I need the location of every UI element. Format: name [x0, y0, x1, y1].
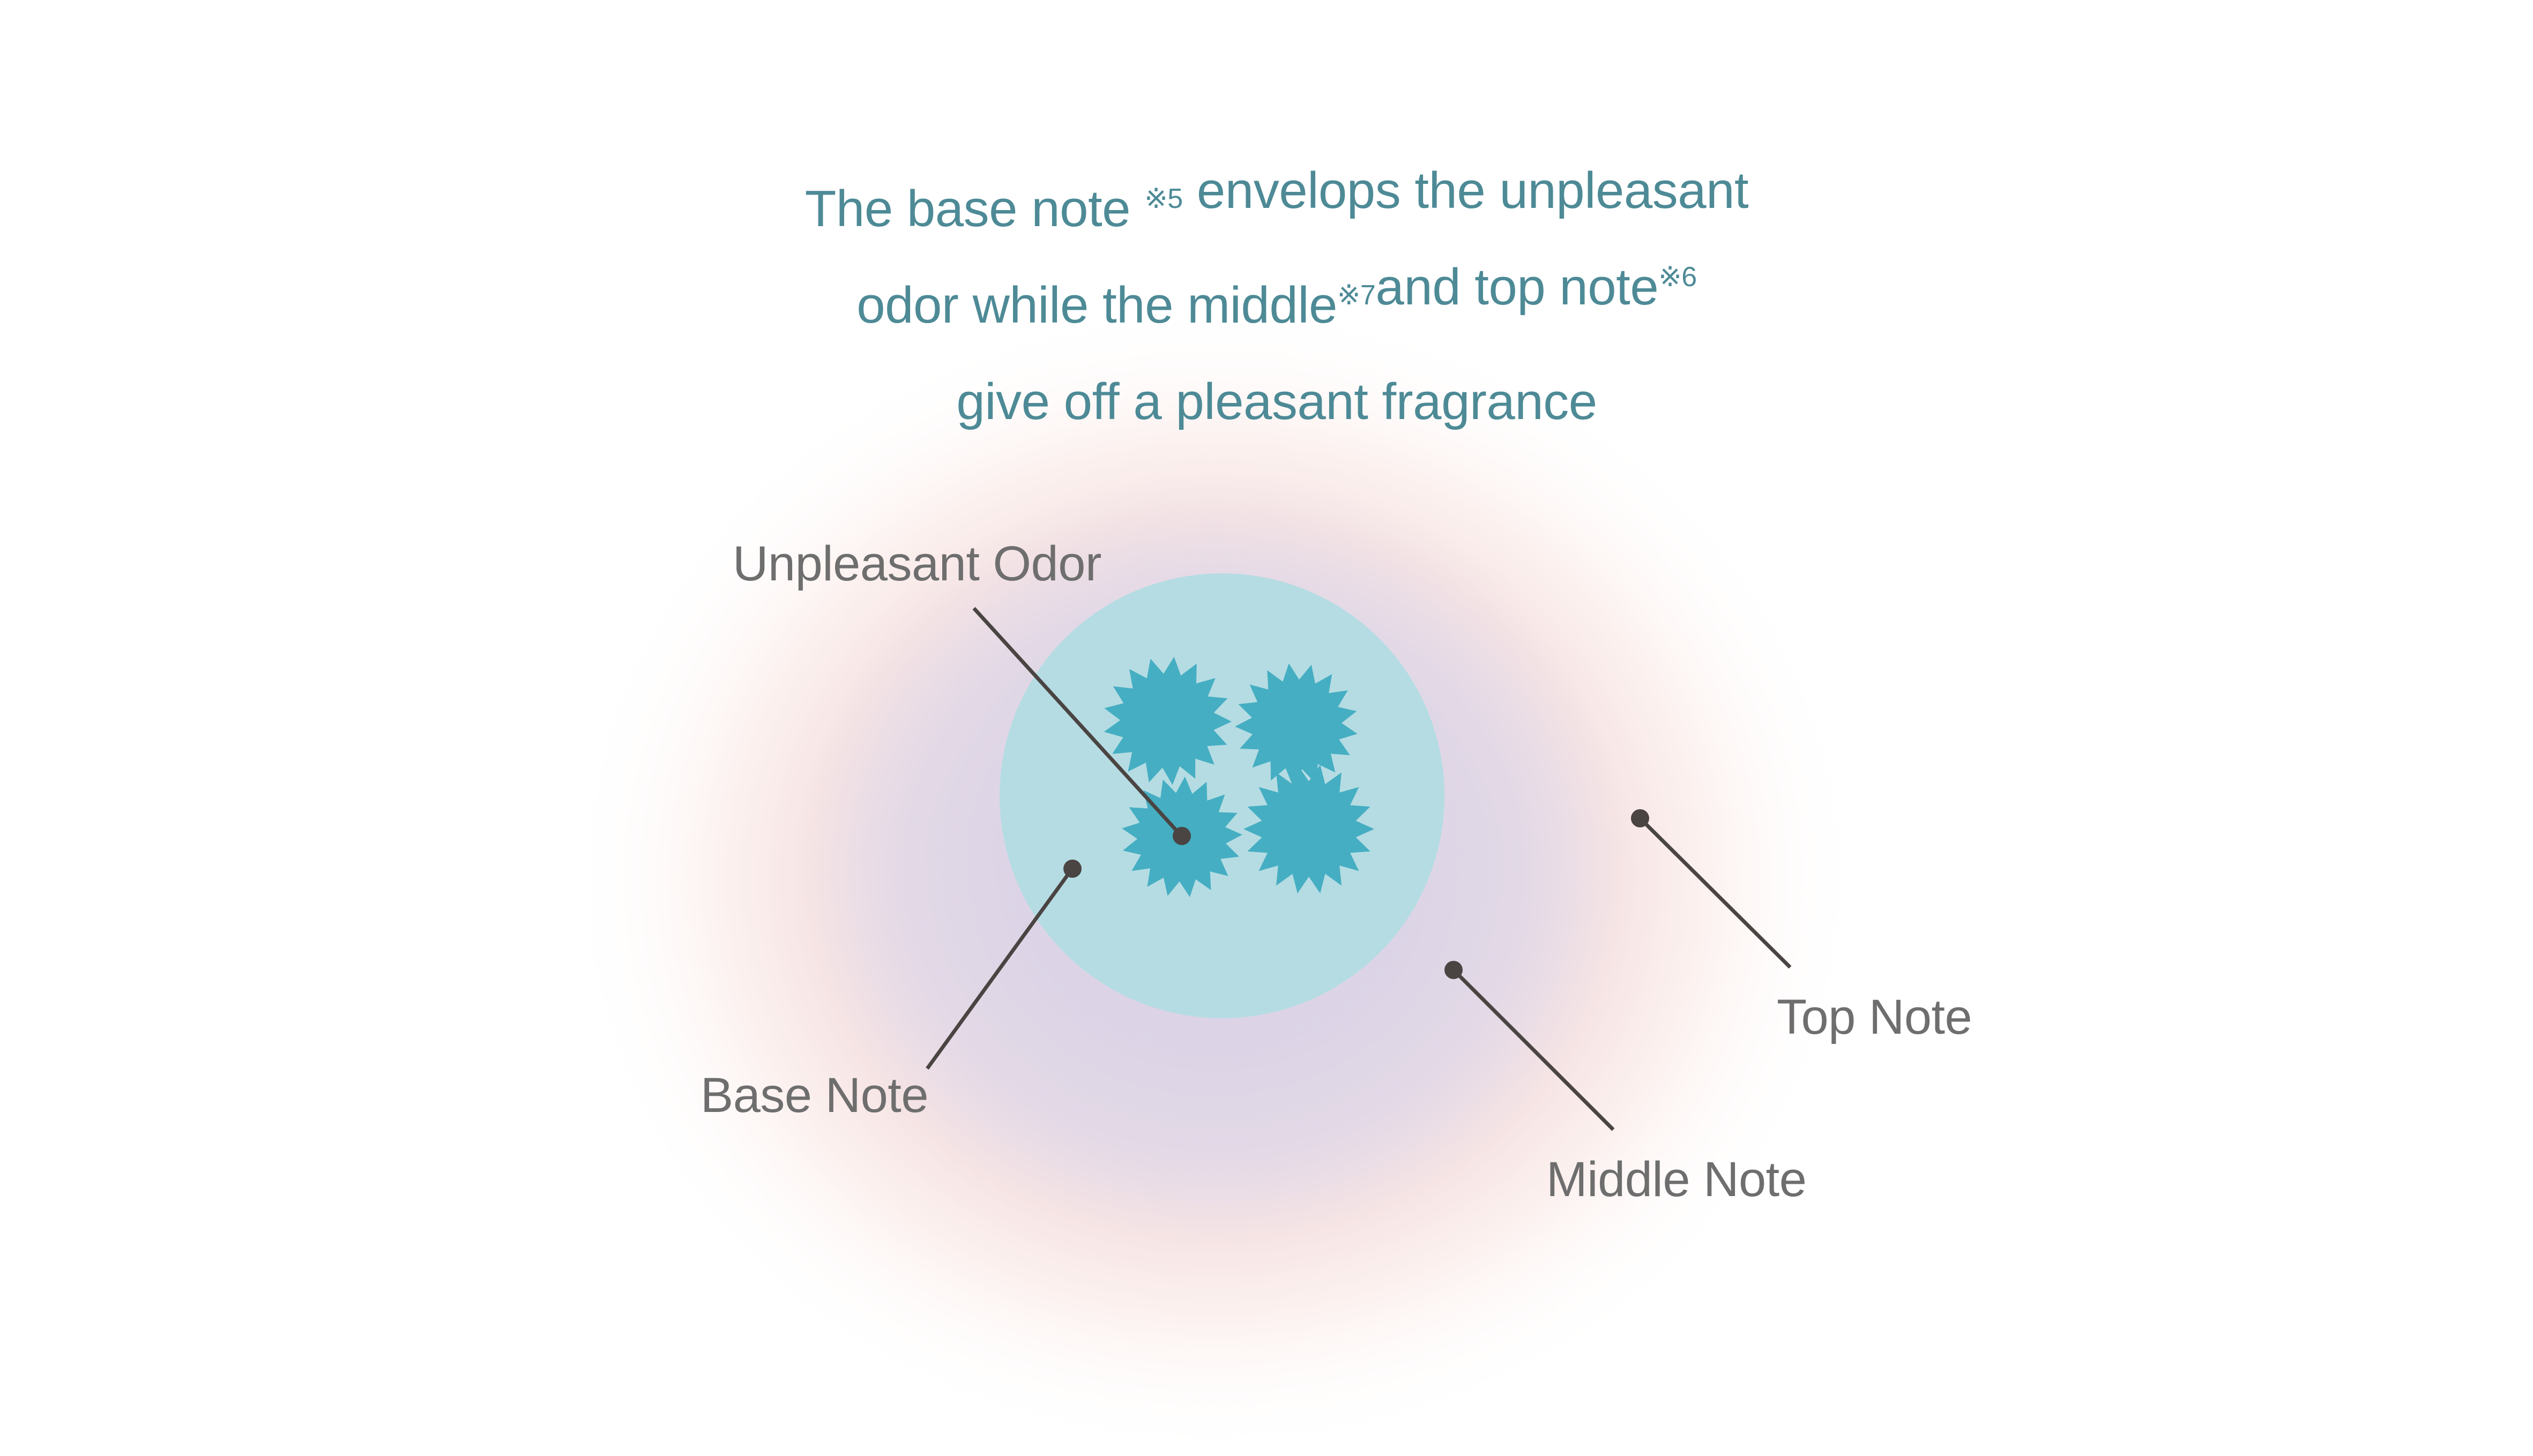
leader-dot-unpleasant-odor [1173, 827, 1191, 845]
reference-mark: ※7 [1337, 280, 1376, 311]
label-base-note: Base Note [701, 1068, 928, 1123]
label-top-note: Top Note [1777, 990, 1972, 1044]
title-line-2: odor while the middle※7and top note※6 [856, 258, 1696, 334]
title-segment: and top note [1375, 258, 1658, 316]
label-unpleasant-odor: Unpleasant Odor [733, 536, 1101, 591]
label-middle-note: Middle Note [1546, 1152, 1806, 1207]
title-segment: odor while the middle [856, 277, 1337, 334]
title-line-3: give off a pleasant fragrance [956, 373, 1597, 430]
title-segment: The base note [805, 180, 1144, 237]
leader-dot-top-note [1631, 809, 1649, 827]
reference-mark: ※5 [1144, 183, 1183, 214]
title-segment: give off a pleasant fragrance [956, 373, 1597, 430]
leader-dot-base-note [1063, 860, 1082, 878]
title-line-1: The base note ※5 envelops the unpleasant [805, 162, 1748, 237]
diagram-canvas: The base note ※5 envelops the unpleasant… [0, 0, 2533, 1456]
reference-mark: ※6 [1658, 262, 1697, 293]
leader-dot-middle-note [1444, 961, 1463, 979]
title-segment: envelops the unpleasant [1183, 162, 1748, 219]
fragrance-note-diagram: The base note ※5 envelops the unpleasant… [0, 0, 2533, 1456]
